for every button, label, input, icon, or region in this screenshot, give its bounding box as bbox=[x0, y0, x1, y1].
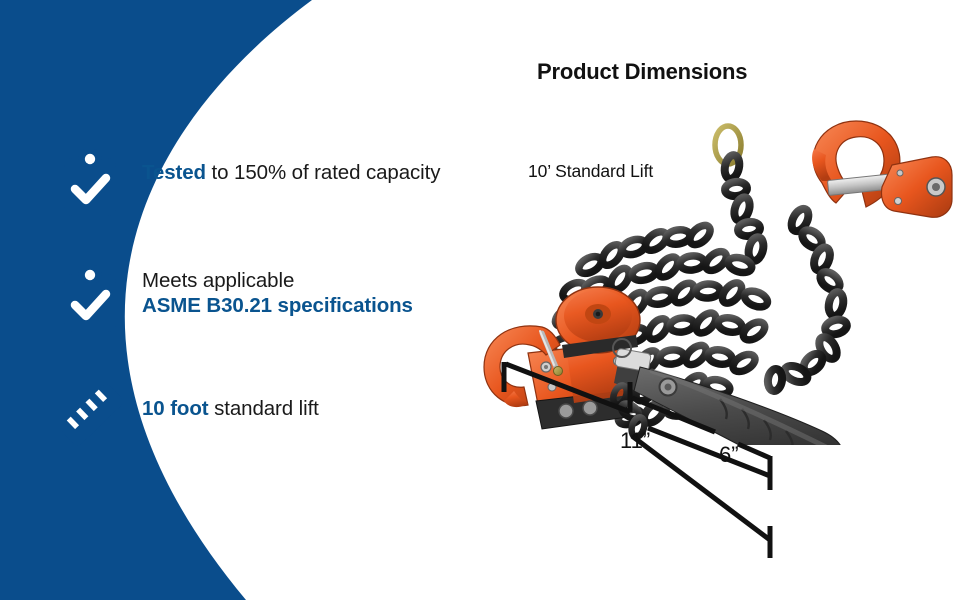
page-title: Product Dimensions bbox=[537, 59, 867, 85]
top-hook bbox=[812, 121, 952, 217]
feature-text-asme: Meets applicable ASME B30.21 specificati… bbox=[142, 264, 413, 318]
feature-text-tested: Tested to 150% of rated capacity bbox=[142, 148, 440, 185]
dimension-line-11 bbox=[504, 362, 770, 490]
dimension-label-11: 11” bbox=[620, 428, 650, 454]
feature-item-tested: Tested to 150% of rated capacity bbox=[62, 148, 492, 218]
feature-normal-tested: to 150% of rated capacity bbox=[206, 161, 440, 184]
infographic-canvas: Tested to 150% of rated capacity Meets a… bbox=[0, 0, 970, 600]
feature-item-asme: Meets applicable ASME B30.21 specificati… bbox=[62, 264, 492, 334]
clipboard-check-icon bbox=[62, 264, 124, 334]
ruler-icon bbox=[62, 380, 124, 450]
dimension-label-6: 6” bbox=[719, 442, 739, 468]
feature-list: Tested to 150% of rated capacity Meets a… bbox=[62, 148, 492, 496]
feature-text-lift: 10 foot standard lift bbox=[142, 380, 319, 421]
feature-item-lift: 10 foot standard lift bbox=[62, 380, 492, 450]
feature-normal-standard-lift: standard lift bbox=[209, 397, 319, 420]
clipboard-check-icon bbox=[62, 148, 124, 218]
feature-bold-10foot: 10 foot bbox=[142, 397, 209, 420]
feature-line-asme-spec: ASME B30.21 specifications bbox=[142, 293, 413, 318]
feature-bold-tested: Tested bbox=[142, 161, 206, 184]
feature-line-meets-applicable: Meets applicable bbox=[142, 268, 413, 293]
